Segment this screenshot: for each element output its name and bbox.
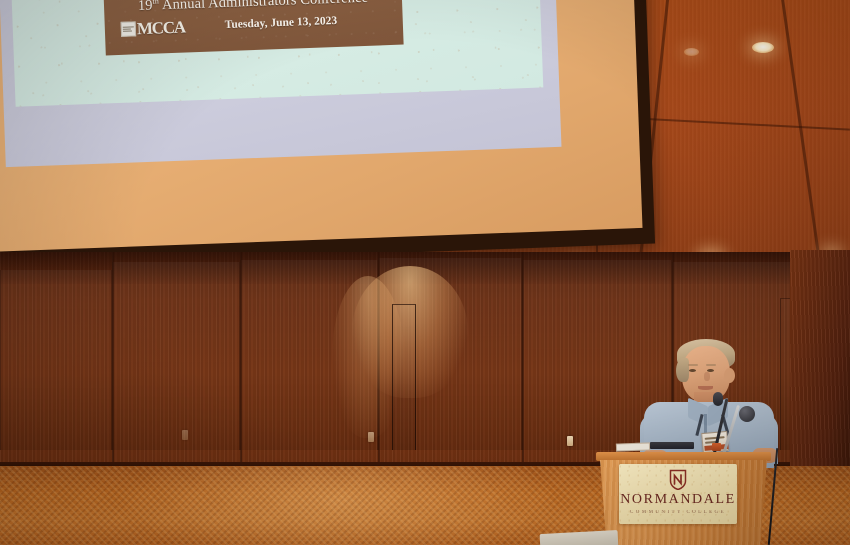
wall-panel: [112, 262, 240, 450]
normandale-shield-icon: [670, 469, 687, 490]
wall-panel: [0, 270, 112, 450]
wall-seam: [378, 252, 380, 472]
projection-screen-surface: 19th Annual Administrators Conference Tu…: [0, 0, 643, 252]
podium-cup[interactable]: [712, 443, 721, 451]
mcca-logo-text: MCCA: [137, 19, 186, 38]
podium-laptop[interactable]: [650, 442, 694, 449]
mcca-logo-mark: [121, 21, 137, 37]
projection-matte-border: 19th Annual Administrators Conference Tu…: [0, 0, 561, 167]
badge-text-line: [705, 436, 725, 439]
presenter-brow-right: [706, 364, 716, 366]
microphone-head-secondary: [739, 406, 755, 422]
wall-outlet: [182, 430, 188, 440]
presentation-slide: 19th Annual Administrators Conference Tu…: [8, 0, 543, 107]
podium-institution-subtitle: COMMUNITY COLLEGE: [619, 510, 737, 515]
presenter-ear: [724, 368, 735, 383]
presenter-hair-side: [676, 358, 689, 382]
microphone-head: [713, 392, 723, 406]
ceiling-downlight: [752, 42, 774, 53]
wall-outlet: [567, 436, 573, 446]
presenter-eye-left: [689, 369, 696, 372]
podium-top-edge: [596, 452, 771, 461]
projection-screen: 19th Annual Administrators Conference Tu…: [0, 0, 655, 268]
podium-paper[interactable]: [616, 442, 650, 451]
wall-door[interactable]: [392, 304, 416, 450]
wall-seam: [112, 252, 114, 472]
presenter-nose: [704, 372, 710, 381]
wall-seam: [240, 252, 242, 472]
mcca-logo: MCCA: [121, 19, 186, 38]
podium-institution-name: NORMANDALE: [619, 492, 737, 508]
ceiling-seam: [781, 0, 822, 268]
wall-outlet: [368, 432, 374, 442]
presenter-mouth: [698, 386, 713, 390]
conference-room-photo: 19th Annual Administrators Conference Tu…: [0, 0, 850, 545]
speaker-podium: NORMANDALE COMMUNITY COLLEGE: [596, 452, 771, 545]
presenter-brow-left: [688, 364, 698, 366]
wall-seam: [522, 252, 524, 472]
slide-title-number: 19: [138, 0, 153, 14]
slide-caption-band: 19th Annual Administrators Conference Tu…: [103, 0, 403, 55]
podium-sign: NORMANDALE COMMUNITY COLLEGE: [619, 464, 737, 524]
wall-panel: [240, 260, 378, 450]
ceiling-downlight: [684, 48, 699, 56]
